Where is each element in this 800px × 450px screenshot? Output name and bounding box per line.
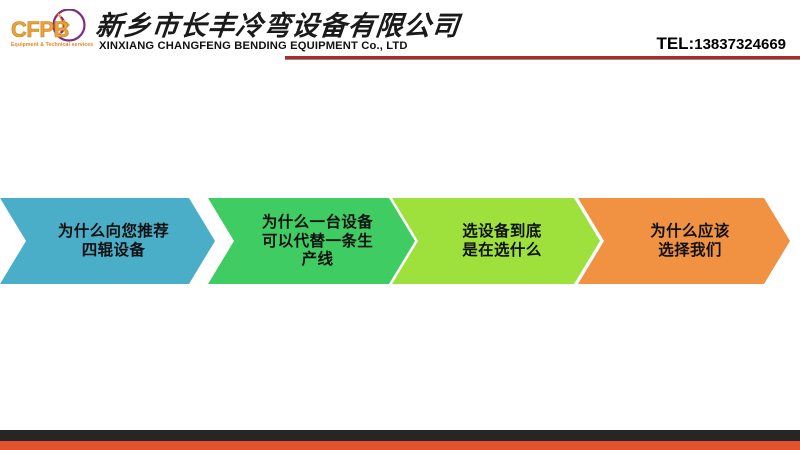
telephone-contact: TEL:13837324669 <box>656 34 786 54</box>
flow-chevron-2-line-1: 为什么一台设备 <box>262 213 373 232</box>
company-logo: CFPB Equipment & Technical services <box>8 8 100 54</box>
flow-chevron-4-line-2: 选择我们 <box>650 241 730 260</box>
header-divider-rule <box>285 56 800 59</box>
flow-chevron-2-line-3: 产线 <box>262 250 373 269</box>
footer-accent-bar <box>0 441 800 450</box>
flow-chevron-1-line-1: 为什么向您推荐 <box>58 222 169 241</box>
telephone-number: 13837324669 <box>694 36 786 53</box>
footer-dark-bar <box>0 430 800 441</box>
process-flow: 为什么向您推荐四辊设备为什么一台设备可以代替一条生产线选设备到底是在选什么为什么… <box>0 198 800 284</box>
flow-chevron-2[interactable]: 为什么一台设备可以代替一条生产线 <box>208 198 415 284</box>
flow-chevron-2-label: 为什么一台设备可以代替一条生产线 <box>242 213 381 270</box>
logo-tagline: Equipment & Technical services <box>11 42 101 48</box>
company-name-english: XINXIANG CHANGFENG BENDING EQUIPMENT Co.… <box>99 40 408 52</box>
flow-chevron-3-line-2: 是在选什么 <box>462 241 542 260</box>
flow-chevron-1-label: 为什么向您推荐四辊设备 <box>38 222 177 260</box>
flow-chevron-3-label: 选设备到底是在选什么 <box>442 222 550 260</box>
logo-wordmark: CFPB <box>11 17 69 43</box>
telephone-label: TEL: <box>656 34 694 53</box>
flow-chevron-1-line-2: 四辊设备 <box>58 241 169 260</box>
company-name-chinese: 新乡市长丰冷弯设备有限公司 <box>94 4 462 43</box>
flow-chevron-4[interactable]: 为什么应该选择我们 <box>578 198 790 284</box>
flow-chevron-4-line-1: 为什么应该 <box>650 222 730 241</box>
flow-chevron-3-line-1: 选设备到底 <box>462 222 542 241</box>
flow-chevron-4-label: 为什么应该选择我们 <box>630 222 738 260</box>
flow-chevron-3[interactable]: 选设备到底是在选什么 <box>392 198 600 284</box>
flow-chevron-1[interactable]: 为什么向您推荐四辊设备 <box>0 198 215 284</box>
page-header: CFPB Equipment & Technical services 新乡市长… <box>0 0 800 60</box>
flow-chevron-2-line-2: 可以代替一条生 <box>262 232 373 251</box>
